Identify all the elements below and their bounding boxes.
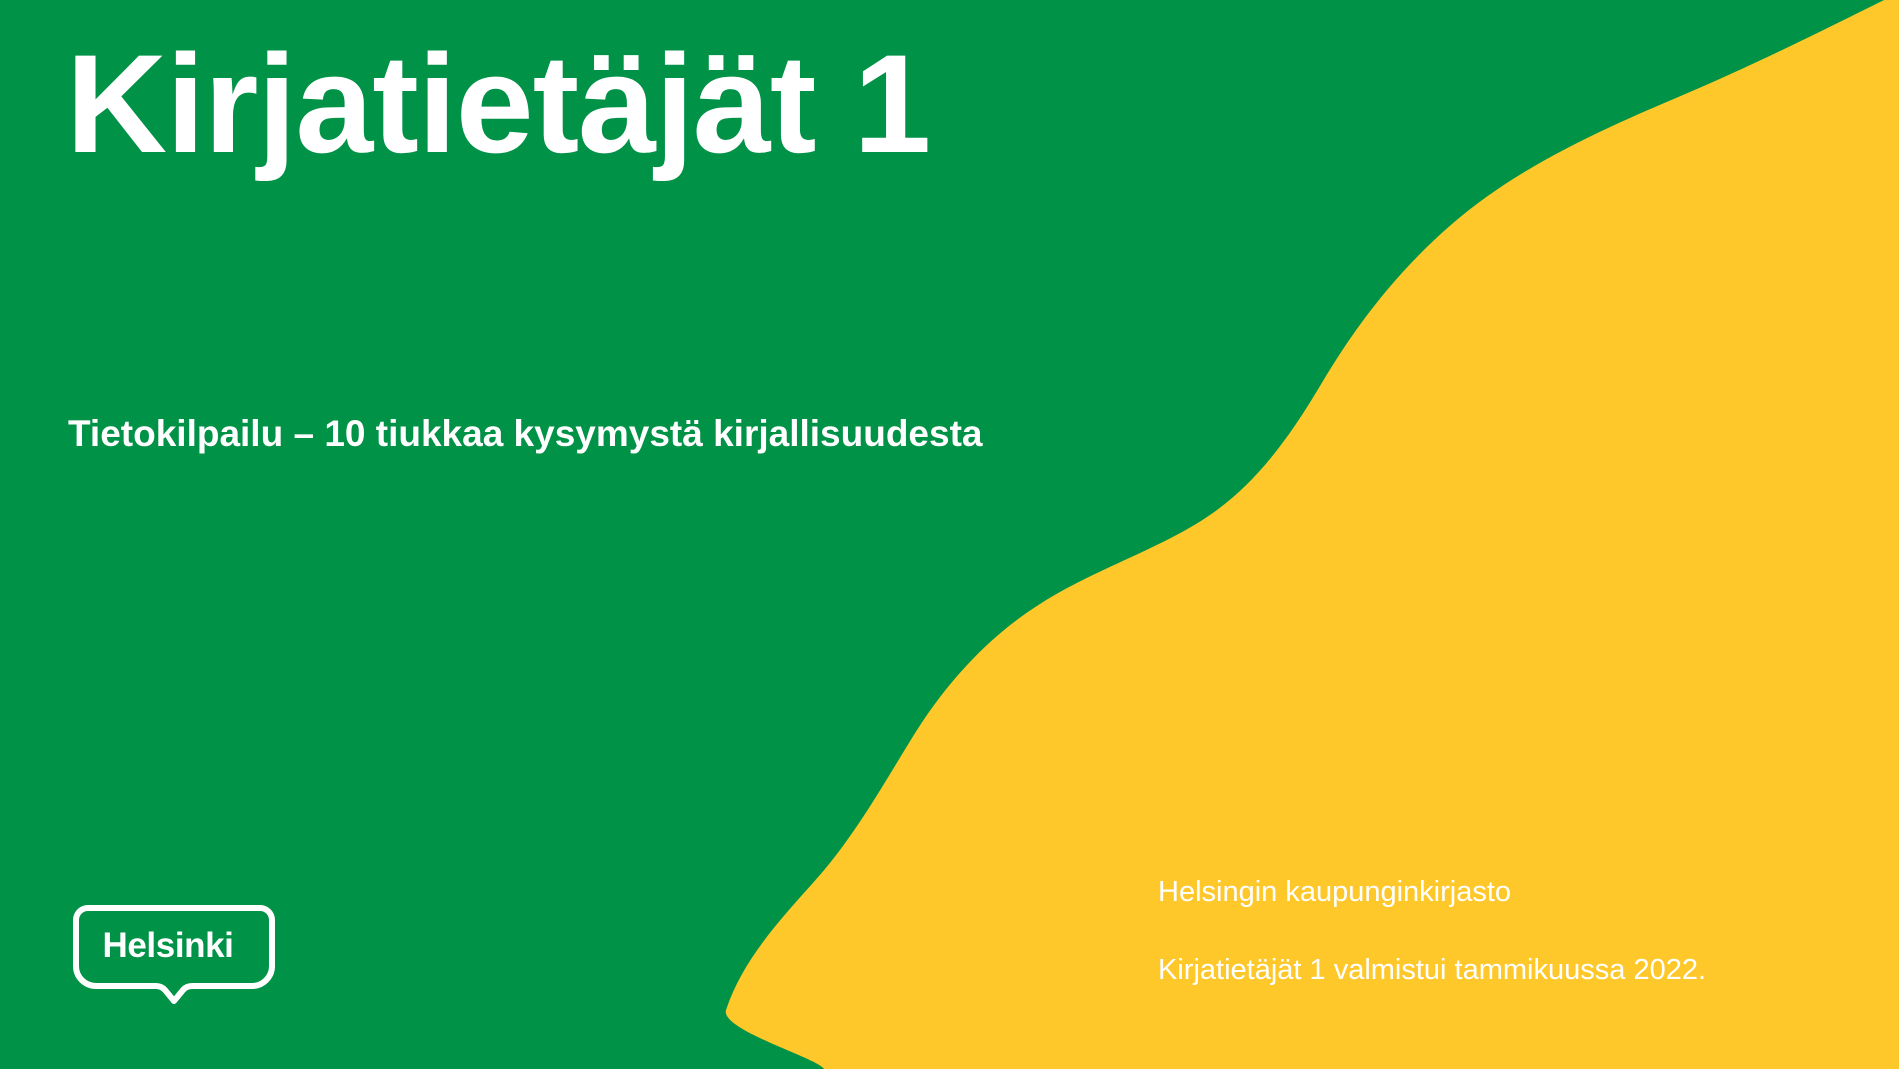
presentation-slide: Kirjatietäjät 1 Tietokilpailu – 10 tiukk… [0, 0, 1899, 1069]
page-title: Kirjatietäjät 1 [66, 30, 930, 177]
credits-organization: Helsingin kaupunginkirjasto [1158, 874, 1878, 910]
credits-block: Helsingin kaupunginkirjasto Kirjatietäjä… [1158, 874, 1878, 989]
helsinki-shield-icon [64, 900, 280, 1020]
credits-completion-note: Kirjatietäjät 1 valmistui tammikuussa 20… [1158, 952, 1878, 988]
slide-subtitle: Tietokilpailu – 10 tiukkaa kysymystä kir… [68, 412, 983, 456]
slide-content: Kirjatietäjät 1 Tietokilpailu – 10 tiukk… [0, 0, 1899, 1069]
helsinki-logo: Helsinki [64, 900, 280, 1020]
